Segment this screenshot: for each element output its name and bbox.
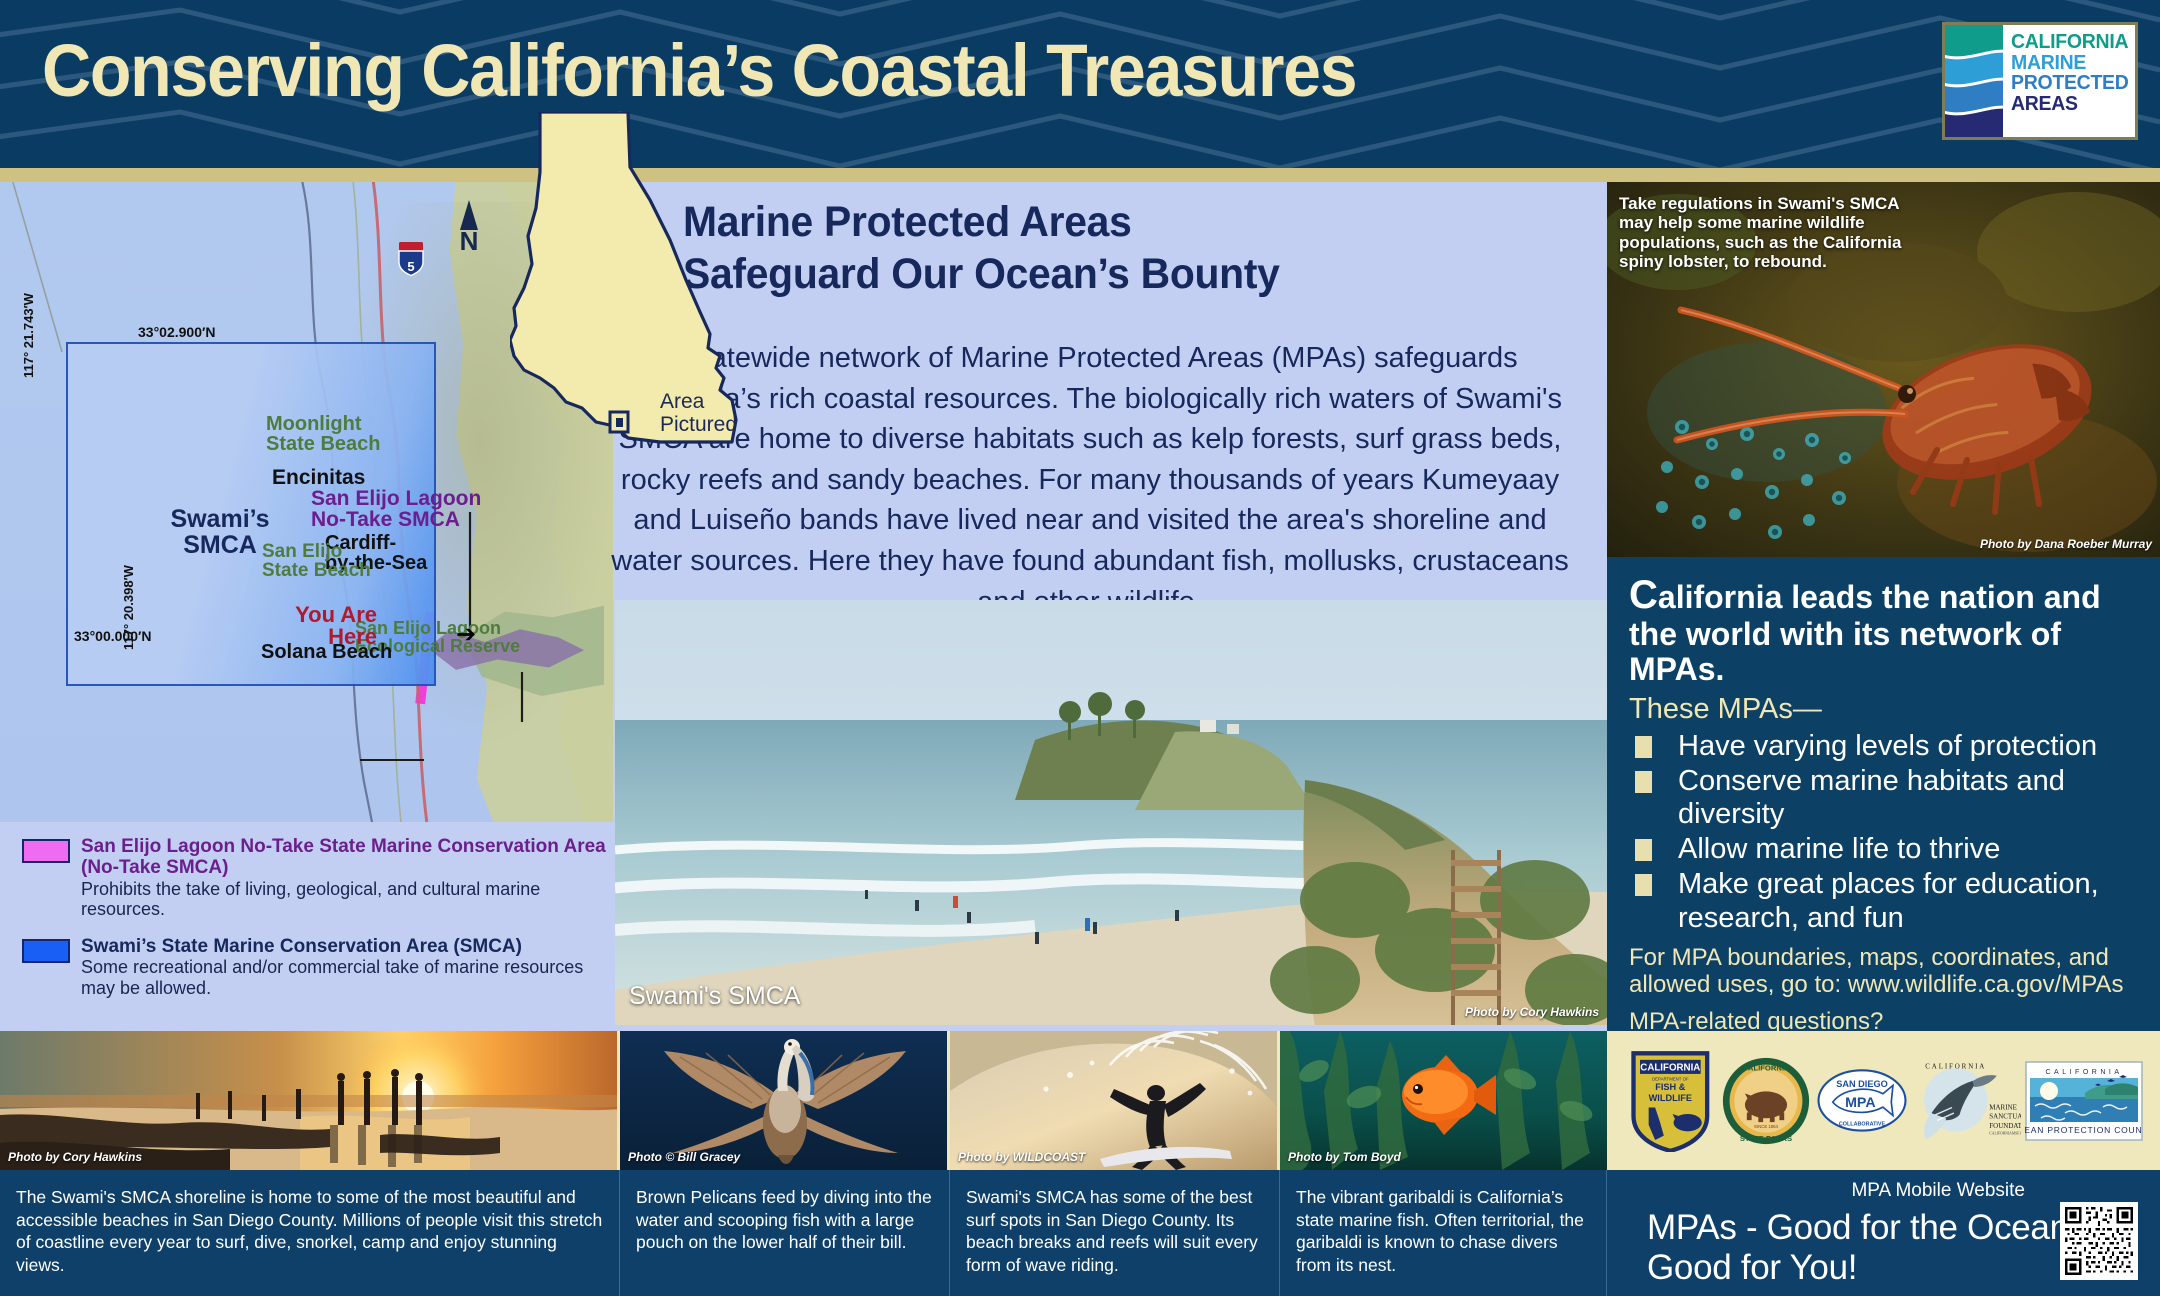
beach-photo-label: Swami's SMCA	[629, 982, 800, 1011]
qr-code[interactable]	[2060, 1202, 2138, 1280]
legend-item: Swami’s State Marine Conservation Area (…	[22, 936, 622, 999]
map-legend: San Elijo Lagoon No-Take State Marine Co…	[22, 836, 622, 1015]
mpa-facts-panel: California leads the nation and the worl…	[1607, 557, 2160, 1031]
interstate-5-shield-icon: 5	[398, 242, 424, 276]
map-label-san-elijo-state-beach: San ElijoState Beach	[262, 542, 324, 581]
svg-text:SANCTUARY: SANCTUARY	[1989, 1112, 2021, 1120]
svg-text:OCEAN PROTECTION COUNCIL: OCEAN PROTECTION COUNCIL	[2025, 1125, 2143, 1135]
logo-wave-mark	[1945, 25, 2003, 137]
california-ocean-protection-council-logo: CALIFORNIA OCEAN PROTECTION COUNCIL	[2025, 1049, 2143, 1153]
bullet-square-icon	[1635, 771, 1652, 793]
svg-text:FISH &: FISH &	[1655, 1082, 1685, 1092]
swamis-smca-beach-photo: Swami's SMCA Photo by Cory Hawkins	[615, 600, 1607, 1025]
legend-desc-no-take-smca: Prohibits the take of living, geological…	[81, 879, 622, 920]
logo-line-marine: MARINE	[2011, 53, 2129, 74]
surfer-photo-credit: Photo by WILDCOAST	[958, 1150, 1085, 1164]
tidepool-sunset-photo: Photo by Cory Hawkins	[0, 1031, 620, 1170]
partner-logo-strip: CALIFORNIA DEPARTMENT OF FISH & WILDLIFE	[1607, 1031, 2160, 1170]
logo-line-areas: AREAS	[2011, 94, 2129, 115]
california-mpa-logo: CALIFORNIA MARINE PROTECTED AREAS	[1942, 22, 2138, 140]
tidepool-photo-credit: Photo by Cory Hawkins	[8, 1150, 142, 1164]
section-headline: Marine Protected Areas Safeguard Our Oce…	[683, 196, 1543, 301]
svg-text:MPA: MPA	[1845, 1095, 1876, 1111]
area-pictured-label: Area Pictured	[660, 390, 737, 436]
map-coord-west-bottom: 117° 20.398′W	[122, 565, 135, 650]
headline-line-1: Marine Protected Areas	[683, 196, 1500, 248]
map-label-you-are-here: You Are Here	[272, 604, 377, 649]
lobster-photo-caption: Take regulations in Swami's SMCA may hel…	[1619, 194, 1919, 272]
panel-heading-dropcap: C	[1629, 573, 1658, 617]
spiny-lobster-photo: Take regulations in Swami's SMCA may hel…	[1607, 182, 2160, 557]
garibaldi-photo: Photo by Tom Boyd	[1280, 1031, 1607, 1170]
you-are-here-arrow-icon: ➔	[456, 620, 476, 649]
svg-text:MARINE: MARINE	[1989, 1103, 2017, 1111]
north-arrow-icon: N	[452, 200, 486, 266]
panel-subheading: These MPAs—	[1629, 694, 2140, 726]
svg-text:5: 5	[407, 259, 414, 274]
header-banner: Conserving California’s Coastal Treasure…	[0, 0, 2160, 168]
bullet-square-icon	[1635, 874, 1652, 896]
svg-text:STATE PARKS: STATE PARKS	[1740, 1134, 1792, 1143]
pelican-photo-credit: Photo © Bill Gracey	[628, 1150, 740, 1164]
list-item: Conserve marine habitats and diversity	[1629, 765, 2140, 831]
bullet-square-icon	[1635, 839, 1652, 861]
caption-pelican: Brown Pelicans feed by diving into the w…	[620, 1170, 950, 1296]
california-state-parks-logo: CALIFORNIA STATE PARKS SINCE 1864	[1720, 1049, 1812, 1153]
panel-heading: California leads the nation and the worl…	[1629, 573, 2140, 687]
mpa-benefits-list: Have varying levels of protection Conser…	[1629, 730, 2140, 934]
svg-text:WILDLIFE: WILDLIFE	[1649, 1092, 1692, 1102]
svg-text:FOUNDATION: FOUNDATION	[1989, 1122, 2021, 1130]
svg-text:CALIFORNIA: CALIFORNIA	[1742, 1063, 1790, 1072]
caption-tidepool: The Swami's SMCA shoreline is home to so…	[0, 1170, 620, 1296]
list-item: Have varying levels of protection	[1629, 730, 2140, 763]
interpretive-sign: Conserving California’s Coastal Treasure…	[0, 0, 2160, 1296]
svg-text:COLLABORATIVE: COLLABORATIVE	[1838, 1122, 1885, 1128]
mpa-boundaries-note: For MPA boundaries, maps, coordinates, a…	[1629, 944, 2140, 1000]
surfer-photo: Photo by WILDCOAST	[950, 1031, 1280, 1170]
map-label-moonlight-state-beach: MoonlightState Beach	[266, 414, 381, 455]
map-label-encinitas: Encinitas	[272, 467, 365, 488]
logo-line-protected: PROTECTED	[2011, 73, 2129, 94]
list-item: Make great places for education, researc…	[1629, 868, 2140, 934]
bullet-square-icon	[1635, 736, 1652, 758]
california-fish-and-wildlife-logo: CALIFORNIA DEPARTMENT OF FISH & WILDLIFE	[1625, 1049, 1717, 1153]
garibaldi-photo-credit: Photo by Tom Boyd	[1288, 1150, 1401, 1164]
svg-text:CALIFORNIA: CALIFORNIA	[2045, 1069, 2122, 1076]
svg-text:CALIFORNIA: CALIFORNIA	[1640, 1062, 1700, 1073]
legend-swatch-smca	[22, 939, 70, 963]
bottom-photo-strip: Photo by Cory Hawkins	[0, 1031, 1607, 1170]
caption-garibaldi: The vibrant garibaldi is California’s st…	[1280, 1170, 1607, 1296]
svg-text:CALIFORNIA: CALIFORNIA	[1925, 1062, 1986, 1070]
legend-desc-smca: Some recreational and/or commercial take…	[81, 957, 601, 998]
legend-item: San Elijo Lagoon No-Take State Marine Co…	[22, 836, 622, 920]
footer-tagline-zone: MPAs - Good for the Ocean; Good for You!…	[1607, 1170, 2160, 1296]
logo-line-california: CALIFORNIA	[2011, 32, 2129, 53]
svg-text:SINCE 1864: SINCE 1864	[1754, 1123, 1778, 1128]
svg-text:DEPARTMENT OF: DEPARTMENT OF	[1652, 1076, 1689, 1081]
legend-title-smca: Swami’s State Marine Conservation Area (…	[81, 936, 601, 957]
san-diego-mpa-collaborative-logo: SAN DIEGO MPA COLLABORATIVE	[1816, 1049, 1908, 1153]
lobster-photo-credit: Photo by Dana Roeber Murray	[1980, 537, 2152, 551]
svg-text:CALIFORNIAMSF.ORG: CALIFORNIAMSF.ORG	[1989, 1131, 2021, 1135]
svg-text:SAN DIEGO: SAN DIEGO	[1836, 1079, 1888, 1089]
map-label-no-take-smca: San Elijo LagoonNo-Take SMCA	[311, 488, 481, 531]
page-title: Conserving California’s Coastal Treasure…	[42, 28, 1356, 113]
brown-pelican-photo: Photo © Bill Gracey	[620, 1031, 950, 1170]
list-item: Allow marine life to thrive	[1629, 833, 2140, 866]
map-coord-west-top: 117° 21.743′W	[22, 293, 35, 378]
map-coord-north-top: 33°02.900′N	[138, 325, 215, 339]
headline-line-2: Safeguard Our Ocean’s Bounty	[683, 248, 1500, 300]
caption-surfer: Swami's SMCA has some of the best surf s…	[950, 1170, 1280, 1296]
bottom-caption-bar: The Swami's SMCA shoreline is home to so…	[0, 1170, 2160, 1296]
beach-photo-credit: Photo by Cory Hawkins	[1465, 1005, 1599, 1019]
qr-code-label: MPA Mobile Website	[1851, 1180, 2025, 1202]
legend-swatch-no-take-smca	[22, 839, 70, 863]
header-gold-divider	[0, 168, 2160, 182]
california-marine-sanctuary-foundation-logo: CALIFORNIA MARINE SANCTUARY FOUNDATION C…	[1911, 1049, 2021, 1153]
map-coord-north-bottom: 33°00.000′N	[74, 629, 151, 643]
legend-title-no-take-smca: San Elijo Lagoon No-Take State Marine Co…	[81, 836, 622, 879]
panel-heading-rest: alifornia leads the nation and the world…	[1629, 579, 2101, 687]
qr-code-icon	[2065, 1207, 2133, 1275]
